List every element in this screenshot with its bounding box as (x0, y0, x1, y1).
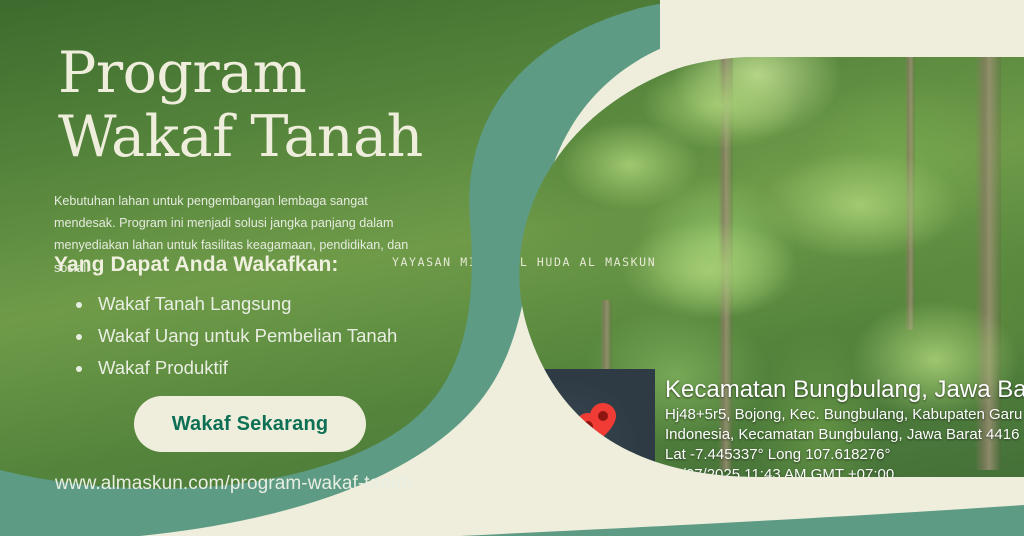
list-item: Wakaf Produktif (94, 352, 397, 384)
list-item: Wakaf Uang untuk Pembelian Tanah (94, 320, 397, 352)
bottom-cream-band (560, 477, 1024, 513)
website-url[interactable]: www.almaskun.com/program-wakaf-tanah (55, 473, 412, 495)
poster-canvas: YAYASAN MIFTAHUL HUDA AL MASKUN Kecamata… (0, 0, 1024, 536)
wakaf-sekarang-button[interactable]: Wakaf Sekarang (134, 396, 366, 452)
top-cream-band (660, 0, 1024, 57)
section-subheading: Yang Dapat Anda Wakafkan: (54, 253, 339, 277)
wakaf-options-list: Wakaf Tanah Langsung Wakaf Uang untuk Pe… (70, 288, 397, 383)
list-item: Wakaf Tanah Langsung (94, 288, 397, 320)
page-title: Program Wakaf Tanah (58, 42, 478, 170)
